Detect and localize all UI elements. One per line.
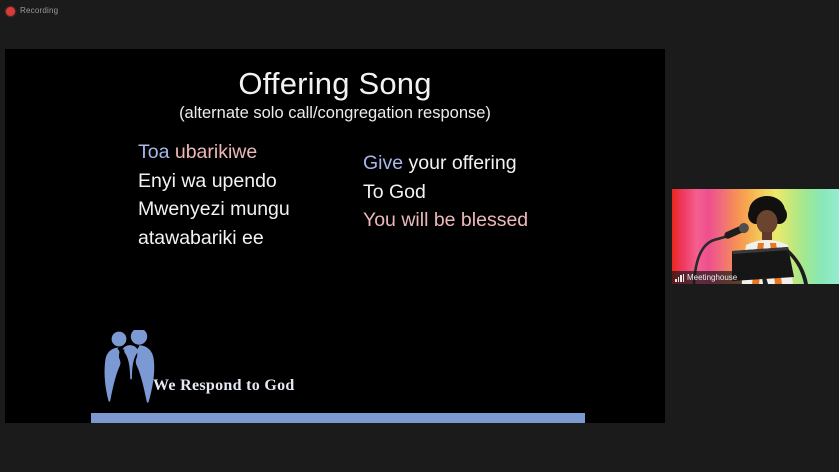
lyric-word: Enyi wa upendo: [138, 170, 277, 192]
logo-lockup: We Respond to God: [99, 330, 599, 420]
lyric-word: You will be blessed: [363, 209, 528, 231]
lyric-line: You will be blessed: [363, 206, 528, 235]
participant-name-badge: Meetinghouse: [672, 271, 742, 284]
shared-slide: Offering Song (alternate solo call/congr…: [5, 49, 665, 423]
participant-video-tile[interactable]: Meetinghouse: [672, 189, 839, 284]
logo-accent-bar: [91, 413, 585, 423]
lyric-word: ubarikiwe: [175, 141, 257, 163]
signal-bars-icon: [675, 274, 684, 282]
lyric-word: Give: [363, 152, 409, 174]
lyric-line: Mwenyezi mungu: [138, 195, 290, 224]
desktop-background: Recording Offering Song (alternate solo …: [0, 0, 839, 472]
lyrics-column-english: Give your offering To God You will be bl…: [363, 149, 528, 235]
lyric-line: To God: [363, 178, 528, 207]
lyric-line: Toa ubarikiwe: [138, 138, 290, 167]
lyric-line: Give your offering: [363, 149, 528, 178]
two-figures-icon: [99, 330, 159, 406]
lyric-line: atawabariki ee: [138, 224, 290, 253]
lyric-word: Mwenyezi mungu: [138, 198, 290, 220]
slide-title: Offering Song: [5, 66, 665, 102]
recording-indicator[interactable]: Recording: [6, 4, 58, 18]
participant-name: Meetinghouse: [687, 273, 737, 282]
lyric-word: your offering: [409, 152, 517, 174]
speaker-at-microphone-figure: [672, 189, 839, 284]
recording-dot-icon: [6, 7, 15, 16]
logo-wordmark: We Respond to God: [153, 377, 295, 395]
slide-subtitle: (alternate solo call/congregation respon…: [5, 103, 665, 124]
recording-label: Recording: [20, 6, 58, 16]
lyric-word: atawabariki ee: [138, 227, 264, 249]
lyric-line: Enyi wa upendo: [138, 167, 290, 196]
lyrics-column-swahili: Toa ubarikiwe Enyi wa upendo Mwenyezi mu…: [138, 138, 290, 252]
lyric-word: To God: [363, 181, 426, 203]
lyric-word: Toa: [138, 141, 175, 163]
